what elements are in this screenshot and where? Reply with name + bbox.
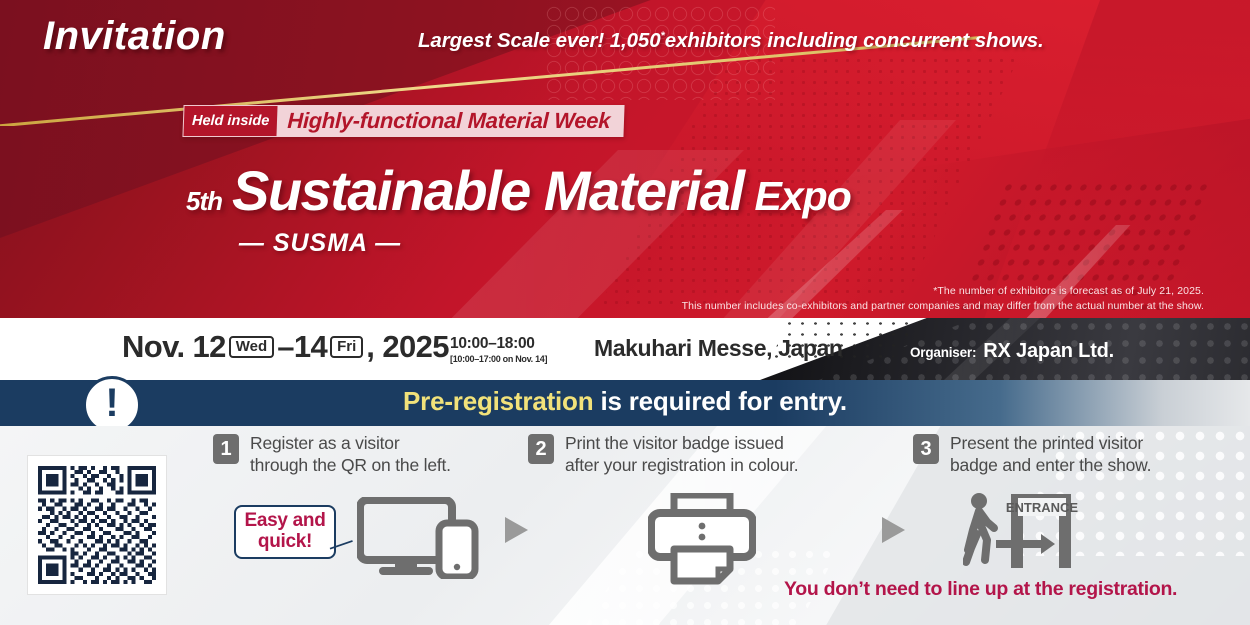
easy-quick-callout: Easy and quick! (234, 505, 336, 559)
entrance-label: ENTRANCE (1006, 500, 1079, 515)
held-inside-label: Held inside (182, 105, 277, 137)
footnote-line-2: This number includes co-exhibitors and p… (682, 299, 1204, 314)
prereg-highlight: Pre-registration (403, 386, 593, 416)
event-subtitle: — SUSMA — (0, 229, 1250, 258)
step-1: 1 Register as a visitor through the QR o… (213, 432, 451, 477)
step-1-number: 1 (213, 434, 239, 464)
devices-icon (357, 497, 479, 579)
date-range-end: –14 (277, 329, 327, 365)
step-1-text: Register as a visitor through the QR on … (250, 432, 451, 477)
held-inside-badge: Held inside Highly-functional Material W… (182, 105, 624, 137)
held-inside-event: Highly-functional Material Week (277, 105, 625, 137)
step-2-text: Print the visitor badge issued after you… (565, 432, 798, 477)
title-edition: 5th (186, 186, 222, 217)
hero-footnote: *The number of exhibitors is forecast as… (682, 284, 1204, 314)
step-2: 2 Print the visitor badge issued after y… (528, 432, 798, 477)
event-dates: Nov. 12 Wed –14 Fri , 2025 (122, 329, 449, 365)
prereg-rest: is required for entry. (593, 386, 847, 416)
organiser: Organiser: RX Japan Ltd. (910, 340, 1114, 363)
title-main: Sustainable Material (232, 163, 744, 219)
organiser-label: Organiser: (910, 345, 976, 360)
invitation-flyer: Invitation Largest Scale ever! 1,050*exh… (0, 0, 1250, 625)
hero-tagline: Largest Scale ever! 1,050*exhibitors inc… (418, 29, 1044, 53)
weekday-badge-start: Wed (229, 336, 274, 358)
no-queue-note: You don’t need to line up at the registr… (784, 578, 1177, 601)
footnote-line-1: *The number of exhibitors is forecast as… (682, 284, 1204, 299)
callout-line-2: quick! (258, 532, 312, 553)
organiser-name: RX Japan Ltd. (983, 340, 1114, 363)
callout-tail (330, 540, 356, 554)
step-2-number: 2 (528, 434, 554, 464)
tagline-suffix: exhibitors including concurrent shows. (665, 29, 1044, 52)
tagline-prefix: Largest Scale ever! 1,050 (418, 29, 661, 52)
hours-main: 10:00–18:00 (450, 335, 547, 353)
date-start: Nov. 12 (122, 329, 226, 365)
title-suffix: Expo (755, 176, 851, 217)
venue-name: Makuhari Messe, Japan (594, 335, 843, 362)
event-title: 5th Sustainable Material Expo (186, 163, 851, 219)
exclamation-mark: ! (105, 383, 118, 423)
hours-note: [10:00–17:00 on Nov. 14] (450, 354, 547, 364)
qr-code-image (38, 466, 156, 584)
entrance-icon: ENTRANCE (963, 488, 1081, 570)
step-3-text: Present the printed visitor badge and en… (950, 432, 1151, 477)
weekday-badge-end: Fri (330, 336, 363, 358)
prereg-message: Pre-registration is required for entry. (0, 386, 1250, 417)
step-3-number: 3 (913, 434, 939, 464)
date-year: , 2025 (366, 329, 449, 365)
printer-icon (648, 493, 756, 585)
event-hours: 10:00–18:00 [10:00–17:00 on Nov. 14] (450, 335, 547, 364)
invitation-title: Invitation (43, 14, 226, 59)
hero-banner: Invitation Largest Scale ever! 1,050*exh… (0, 0, 1250, 318)
qr-code[interactable] (28, 456, 166, 594)
arrow-right-icon-1 (503, 515, 531, 545)
callout-line-1: Easy and (244, 511, 325, 532)
step-3: 3 Present the printed visitor badge and … (913, 432, 1151, 477)
arrow-right-icon-2 (880, 515, 908, 545)
